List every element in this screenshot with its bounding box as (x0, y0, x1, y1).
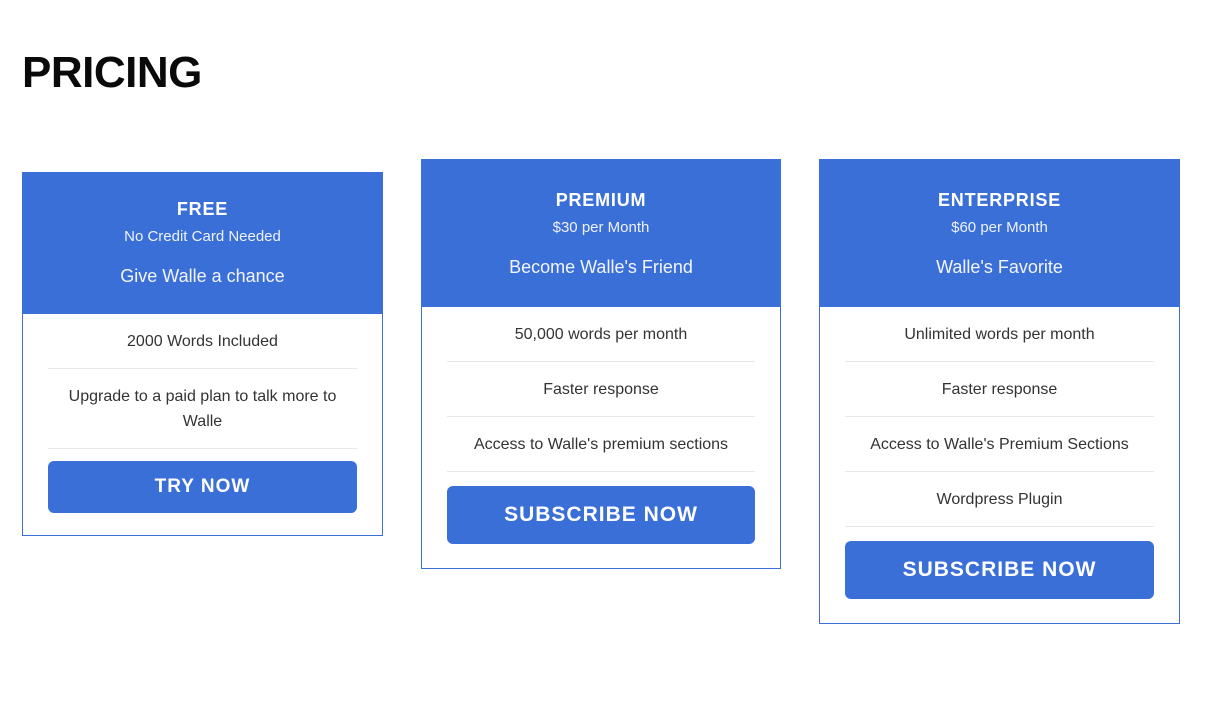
plan-name-enterprise: ENTERPRISE (819, 189, 1180, 211)
subscribe-now-button-premium[interactable]: SUBSCRIBE NOW (447, 486, 755, 544)
card-header-premium: PREMIUM $30 per Month Become Walle's Fri… (421, 159, 781, 307)
pricing-card-free: FREE No Credit Card Needed Give Walle a … (22, 173, 383, 536)
plan-tagline-free: Give Walle a chance (22, 264, 383, 288)
feature-item: Unlimited words per month (845, 307, 1154, 362)
subscribe-now-button-enterprise[interactable]: SUBSCRIBE NOW (845, 541, 1154, 599)
feature-list-free: 2000 Words Included Upgrade to a paid pl… (23, 314, 382, 449)
plan-name-premium: PREMIUM (421, 189, 781, 211)
card-header-enterprise: ENTERPRISE $60 per Month Walle's Favorit… (819, 159, 1180, 307)
feature-item: Wordpress Plugin (845, 472, 1154, 527)
feature-item: 2000 Words Included (48, 314, 357, 369)
feature-item: Access to Walle's premium sections (447, 417, 755, 472)
plan-price-free: No Credit Card Needed (22, 227, 383, 247)
cta-wrap-free: TRY NOW (23, 449, 382, 535)
plan-tagline-enterprise: Walle's Favorite (819, 255, 1180, 279)
feature-item: Faster response (845, 362, 1154, 417)
feature-item: Access to Walle's Premium Sections (845, 417, 1154, 472)
plan-name-free: FREE (22, 198, 383, 220)
pricing-card-premium: PREMIUM $30 per Month Become Walle's Fri… (421, 160, 781, 569)
plan-price-premium: $30 per Month (421, 218, 781, 238)
cta-wrap-enterprise: SUBSCRIBE NOW (820, 527, 1179, 623)
plan-tagline-premium: Become Walle's Friend (421, 255, 781, 279)
feature-item: Faster response (447, 362, 755, 417)
feature-list-premium: 50,000 words per month Faster response A… (422, 307, 780, 472)
feature-item: Upgrade to a paid plan to talk more to W… (48, 369, 357, 449)
try-now-button[interactable]: TRY NOW (48, 461, 357, 513)
pricing-card-enterprise: ENTERPRISE $60 per Month Walle's Favorit… (819, 160, 1180, 624)
feature-item: 50,000 words per month (447, 307, 755, 362)
pricing-page: PRICING FREE No Credit Card Needed Give … (0, 0, 1205, 712)
card-header-free: FREE No Credit Card Needed Give Walle a … (22, 172, 383, 314)
page-title: PRICING (22, 47, 202, 99)
feature-list-enterprise: Unlimited words per month Faster respons… (820, 307, 1179, 527)
cta-wrap-premium: SUBSCRIBE NOW (422, 472, 780, 568)
plan-price-enterprise: $60 per Month (819, 218, 1180, 238)
